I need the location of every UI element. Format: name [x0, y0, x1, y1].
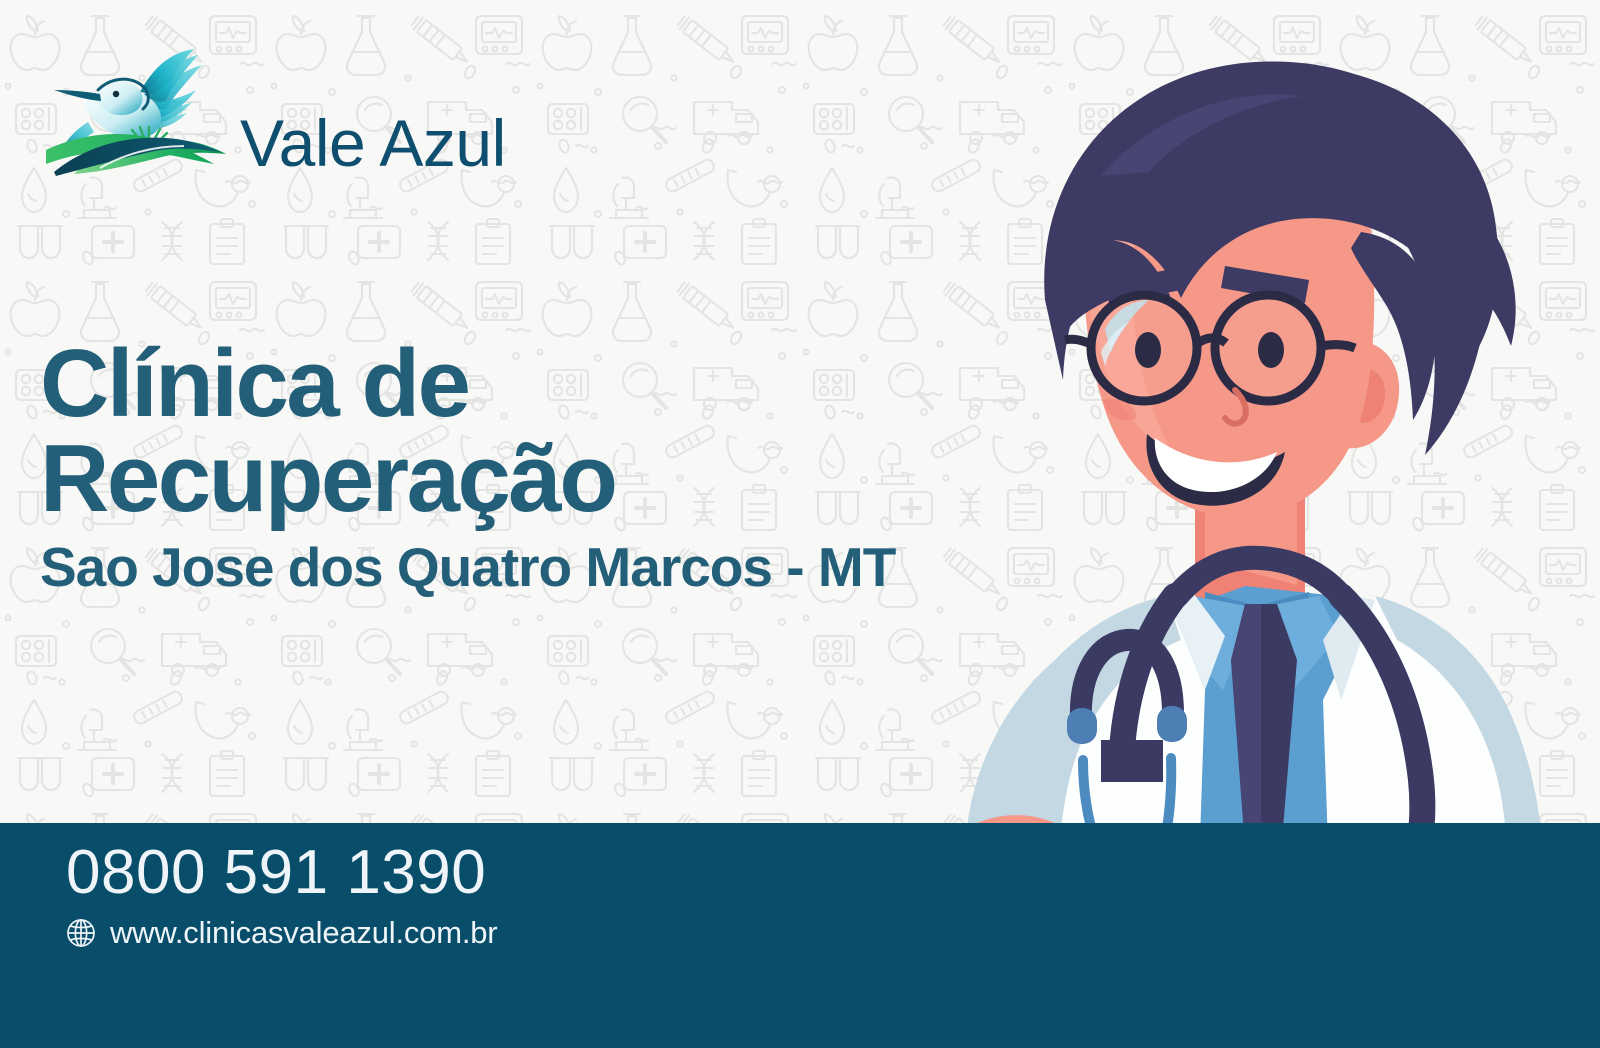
website-url: www.clinicasvaleazul.com.br	[110, 916, 497, 950]
subheadline: Sao Jose dos Quatro Marcos - MT	[40, 538, 1040, 596]
website-row[interactable]: www.clinicasvaleazul.com.br	[66, 916, 497, 950]
business-card-banner: Vale Azul Clínica de Recuperação Sao Jos…	[0, 0, 1600, 1048]
headline-line-2: Recuperação	[40, 431, 1040, 526]
globe-icon	[66, 918, 96, 948]
brand-name: Vale Azul	[240, 110, 506, 176]
headline-line-1: Clínica de	[40, 336, 1040, 431]
brand-logo[interactable]: Vale Azul	[44, 48, 514, 188]
hummingbird-leaf-logo-icon	[44, 48, 229, 178]
contact-footer: 0800 591 1390 www.clinicasvaleazul.com.b…	[0, 823, 1600, 1048]
page-title: Clínica de Recuperação Sao Jose dos Quat…	[40, 336, 1040, 596]
phone-number[interactable]: 0800 591 1390	[66, 840, 486, 906]
